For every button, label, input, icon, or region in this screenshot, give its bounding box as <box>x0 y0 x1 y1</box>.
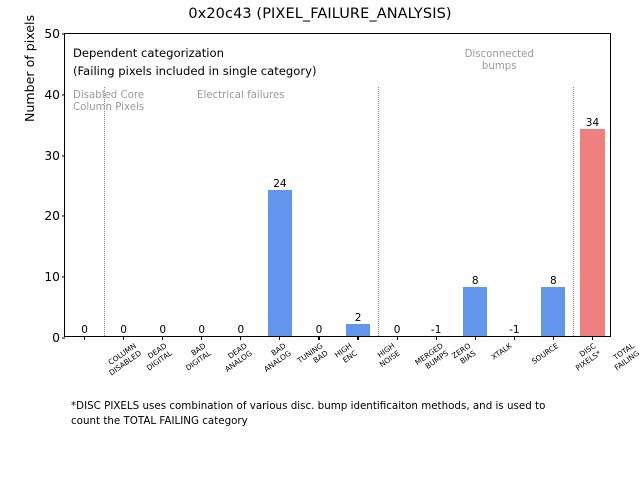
x-tick-mark <box>240 336 241 340</box>
y-tick-label: 30 <box>44 149 60 163</box>
bar-value-label: 8 <box>472 275 479 287</box>
page-title: 0x20c43 (PIXEL_FAILURE_ANALYSIS) <box>0 6 640 22</box>
y-tick-label: 20 <box>44 209 60 223</box>
y-tick-mark <box>62 337 66 338</box>
y-tick-label: 10 <box>44 270 60 284</box>
bar-value-label: 34 <box>586 117 599 129</box>
x-tick-mark <box>201 336 202 340</box>
y-tick-mark <box>62 277 66 278</box>
figure-canvas: 0x20c43 (PIXEL_FAILURE_ANALYSIS) Number … <box>0 0 640 480</box>
y-tick-mark <box>62 33 66 34</box>
y-tick-label: 0 <box>52 331 60 345</box>
plot-area: Number of pixels 01020304050 COLUMN DISA… <box>64 33 611 337</box>
y-tick-mark <box>62 216 66 217</box>
x-tick-label: MERGED BUMPS <box>414 342 450 375</box>
x-tick-mark <box>84 336 85 340</box>
x-tick-mark <box>397 336 398 340</box>
x-tick-label: DISC PIXELS* <box>570 342 603 373</box>
bar[interactable] <box>463 287 487 336</box>
bar[interactable] <box>580 129 604 336</box>
x-tick-mark <box>279 336 280 340</box>
bar[interactable] <box>346 324 370 336</box>
bar-value-label: 0 <box>237 324 244 336</box>
group-divider-line <box>573 87 574 336</box>
x-tick-mark <box>553 336 554 340</box>
x-tick-label: BAD ANALOG <box>257 342 292 374</box>
x-tick-mark <box>162 336 163 340</box>
group-divider-line <box>378 87 379 336</box>
x-tick-label: HIGH NOISE <box>373 342 402 369</box>
annotation-group-3: Disconnected bumps <box>465 49 534 73</box>
y-tick-label: 40 <box>44 88 60 102</box>
x-tick-label: SOURCE <box>531 342 561 367</box>
x-tick-label: COLUMN DISABLED <box>102 342 142 377</box>
bar-value-label: 0 <box>159 324 166 336</box>
x-tick-mark <box>475 336 476 340</box>
x-tick-label: ZERO BIAS <box>451 342 478 368</box>
bar-value-label: 0 <box>81 324 88 336</box>
footnote-text: *DISC PIXELS uses combination of various… <box>71 399 571 428</box>
annotation-group-2: Electrical failures <box>197 90 285 102</box>
x-tick-label: TUNING BAD <box>296 342 330 373</box>
bar[interactable] <box>268 190 292 336</box>
bar-value-label: 8 <box>550 275 557 287</box>
bar[interactable] <box>541 287 565 336</box>
annotation-heading-1: Dependent categorization <box>73 46 224 60</box>
x-tick-label: DEAD ANALOG <box>218 342 253 374</box>
x-tick-label: TOTAL FAILING <box>609 342 640 372</box>
x-tick-mark <box>514 336 515 340</box>
x-tick-label: XTALK <box>490 342 514 362</box>
group-divider-line <box>104 87 105 336</box>
bar-value-label: 0 <box>120 324 127 336</box>
y-tick-mark <box>62 94 66 95</box>
bar-value-label: -1 <box>509 324 519 336</box>
bar-value-label: -1 <box>431 324 441 336</box>
annotation-group-1: Disabled Core Column Pixels <box>73 90 144 114</box>
x-tick-mark <box>592 336 593 340</box>
x-tick-mark <box>318 336 319 340</box>
annotation-heading-2: (Failing pixels included in single categ… <box>73 64 317 78</box>
bar-value-label: 0 <box>394 324 401 336</box>
x-tick-label: DEAD DIGITAL <box>140 342 174 373</box>
y-tick-mark <box>62 155 66 156</box>
x-tick-mark <box>436 336 437 340</box>
x-tick-mark <box>123 336 124 340</box>
x-tick-label: BAD DIGITAL <box>179 342 213 373</box>
y-tick-label: 50 <box>44 27 60 41</box>
bar-value-label: 24 <box>273 178 286 190</box>
x-tick-label: HIGH ENC <box>333 342 358 367</box>
x-tick-mark <box>357 336 358 340</box>
bar-value-label: 2 <box>355 312 362 324</box>
y-axis-label: Number of pixels <box>22 15 37 122</box>
bar-value-label: 0 <box>198 324 205 336</box>
bar-value-label: 0 <box>316 324 323 336</box>
